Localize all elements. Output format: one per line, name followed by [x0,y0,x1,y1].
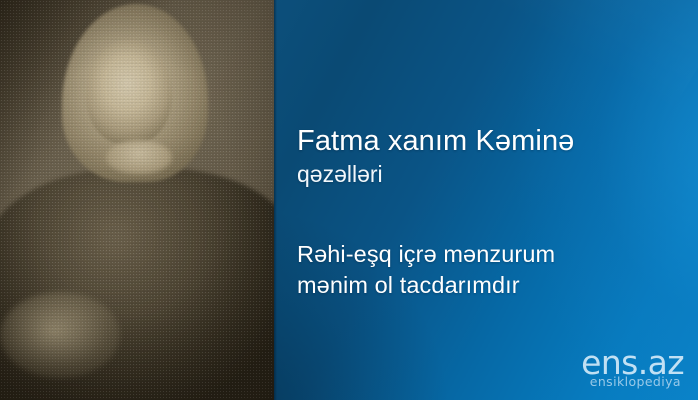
site-logo[interactable]: ens.az ensiklopediya [581,346,684,389]
text-panel: Fatma xanım Kəminə qəzəlləri Rəhi-eşq iç… [274,0,698,400]
text-block: Fatma xanım Kəminə qəzəlləri Rəhi-eşq iç… [297,0,683,400]
panel-seam [274,0,277,400]
title-group: Fatma xanım Kəminə qəzəlləri [297,126,683,188]
logo-tagline: ensiklopediya [581,376,681,389]
poem-group: Rəhi-eşq içrə mənzurum mənim ol tacdarım… [297,239,683,300]
page-subtitle: qəzəlləri [297,162,683,187]
photo-vignette [0,0,274,400]
poem-line-1: Rəhi-eşq içrə mənzurum [297,239,683,270]
page-title: Fatma xanım Kəminə [297,126,683,157]
poem-line-2: mənim ol tacdarımdır [297,270,683,301]
portrait-photo [0,0,274,400]
quote-card: Fatma xanım Kəminə qəzəlləri Rəhi-eşq iç… [0,0,698,400]
